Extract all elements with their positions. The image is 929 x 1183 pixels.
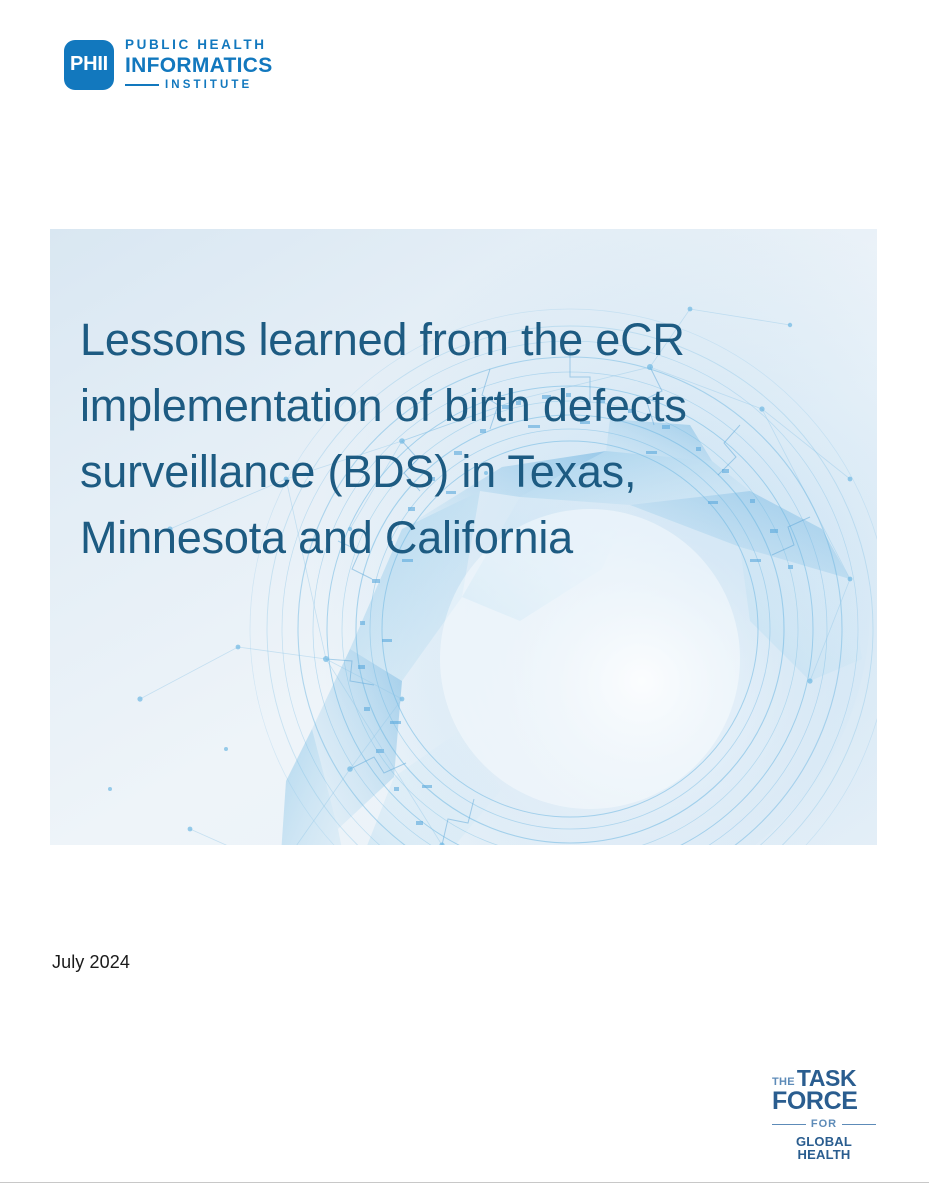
phii-logo: PHII PUBLIC HEALTH INFORMATICS INSTITUTE xyxy=(64,38,273,91)
phii-line-public-health: PUBLIC HEALTH xyxy=(125,38,273,52)
task-force-logo: THE TASK FORCE FOR GLOBAL HEALTH xyxy=(772,1067,876,1161)
document-cover-page: PHII PUBLIC HEALTH INFORMATICS INSTITUTE xyxy=(0,0,929,1183)
task-force-force: FORCE xyxy=(772,1089,876,1114)
phii-wordmark: PUBLIC HEALTH INFORMATICS INSTITUTE xyxy=(125,38,273,91)
title-line-2: implementation of birth defects xyxy=(80,373,860,439)
phii-line-informatics: INFORMATICS xyxy=(125,55,273,76)
title-line-3: surveillance (BDS) in Texas, xyxy=(80,439,860,505)
phii-badge-text: PHII xyxy=(70,53,108,76)
hero-banner: Lessons learned from the eCR implementat… xyxy=(50,229,877,845)
title-line-4: Minnesota and California xyxy=(80,505,860,571)
task-force-rule-right xyxy=(842,1124,876,1125)
page-title: Lessons learned from the eCR implementat… xyxy=(80,307,860,571)
publication-date: July 2024 xyxy=(52,952,130,973)
phii-institute-row: INSTITUTE xyxy=(125,80,273,92)
task-force-rule-left xyxy=(772,1124,806,1125)
phii-badge-icon: PHII xyxy=(64,40,114,90)
phii-rule-divider xyxy=(125,84,159,86)
task-force-for-row: FOR xyxy=(772,1119,876,1130)
phii-line-institute: INSTITUTE xyxy=(165,80,252,92)
task-force-global-health: GLOBAL HEALTH xyxy=(772,1135,876,1161)
title-line-1: Lessons learned from the eCR xyxy=(80,307,860,373)
task-force-for: FOR xyxy=(811,1119,837,1130)
